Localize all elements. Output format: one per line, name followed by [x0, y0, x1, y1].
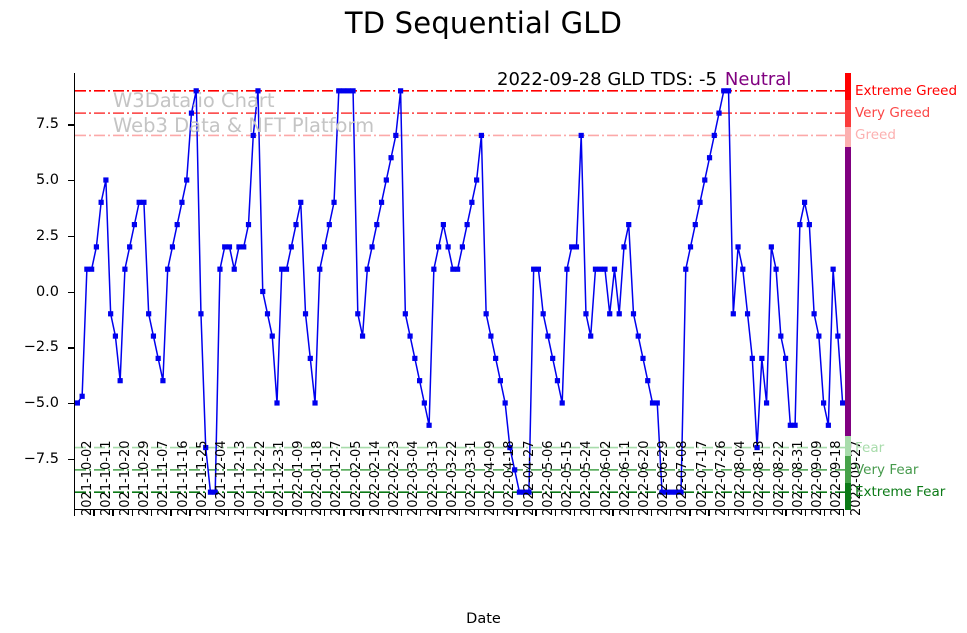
x-tick-mark — [420, 510, 421, 516]
x-tick-label: 2022-02-05 — [349, 440, 364, 516]
x-tick-mark — [285, 510, 286, 516]
x-tick-mark — [497, 510, 498, 516]
x-tick-label: 2021-10-11 — [99, 440, 114, 516]
colorbar-segment-very-fear — [845, 456, 851, 483]
x-tick-label: 2022-04-09 — [483, 440, 498, 516]
x-tick-label: 2022-01-18 — [310, 440, 325, 516]
x-tick-mark — [151, 510, 152, 516]
x-tick-label: 2022-08-04 — [733, 440, 748, 516]
x-tick-mark — [401, 510, 402, 516]
x-tick-label: 2022-02-14 — [368, 440, 383, 516]
x-axis-title: Date — [0, 611, 967, 627]
x-tick-mark — [209, 510, 210, 516]
x-tick-mark — [74, 510, 75, 516]
x-tick-label: 2022-06-02 — [599, 440, 614, 516]
x-tick-label: 2022-09-09 — [810, 440, 825, 516]
x-tick-label: 2022-01-27 — [329, 440, 344, 516]
x-tick-label: 2022-05-15 — [560, 440, 575, 516]
x-tick-label: 2022-07-08 — [675, 440, 690, 516]
x-tick-label: 2022-05-06 — [541, 440, 556, 516]
sentiment-label-greed: Greed — [855, 127, 896, 143]
td-sequential-chart: TD Sequential GLD 7.55.02.50.0−2.5−5.0−7… — [0, 0, 967, 633]
x-tick-label: 2022-04-18 — [502, 440, 517, 516]
x-tick-mark — [632, 510, 633, 516]
x-tick-label: 2022-02-23 — [387, 440, 402, 516]
x-tick-label: 2021-11-25 — [195, 440, 210, 516]
x-tick-mark — [266, 510, 267, 516]
colorbar-segment-neutral — [845, 147, 851, 437]
x-tick-mark — [555, 510, 556, 516]
x-tick-mark — [612, 510, 613, 516]
x-tick-mark — [574, 510, 575, 516]
x-tick-mark — [785, 510, 786, 516]
x-tick-mark — [343, 510, 344, 516]
x-tick-mark — [170, 510, 171, 516]
x-tick-mark — [708, 510, 709, 516]
x-tick-label: 2022-03-22 — [445, 440, 460, 516]
x-tick-label: 2021-12-04 — [214, 440, 229, 516]
sentiment-label-extreme-greed: Extreme Greed — [855, 83, 957, 99]
x-tick-mark — [651, 510, 652, 516]
x-tick-label: 2022-08-13 — [752, 440, 767, 516]
sentiment-colorbar — [845, 73, 851, 510]
x-tick-label: 2021-10-20 — [118, 440, 133, 516]
x-tick-mark — [478, 510, 479, 516]
x-tick-mark — [228, 510, 229, 516]
sentiment-label-very-greed: Very Greed — [855, 105, 930, 121]
x-tick-mark — [670, 510, 671, 516]
sentiment-label-very-fear: Very Fear — [855, 462, 918, 478]
x-tick-label: 2022-03-31 — [464, 440, 479, 516]
x-tick-mark — [439, 510, 440, 516]
colorbar-segment-very-greed — [845, 100, 851, 127]
x-tick-mark — [728, 510, 729, 516]
x-tick-mark — [824, 510, 825, 516]
x-tick-label: 2022-08-22 — [772, 440, 787, 516]
x-tick-mark — [516, 510, 517, 516]
x-tick-mark — [766, 510, 767, 516]
sentiment-label-fear: Fear — [855, 440, 884, 456]
colorbar-segment-greed — [845, 127, 851, 147]
x-tick-mark — [93, 510, 94, 516]
x-tick-mark — [459, 510, 460, 516]
x-tick-label: 2022-06-29 — [656, 440, 671, 516]
x-tick-label: 2022-09-18 — [829, 440, 844, 516]
x-tick-label: 2022-04-27 — [522, 440, 537, 516]
x-tick-label: 2021-12-13 — [233, 440, 248, 516]
x-tick-mark — [535, 510, 536, 516]
sentiment-label-extreme-fear: Extreme Fear — [855, 484, 945, 500]
x-tick-label: 2021-12-31 — [272, 440, 287, 516]
x-tick-mark — [593, 510, 594, 516]
x-tick-label: 2022-07-26 — [714, 440, 729, 516]
x-tick-label: 2021-10-02 — [80, 440, 95, 516]
x-tick-label: 2022-07-17 — [695, 440, 710, 516]
x-tick-label: 2021-11-07 — [156, 440, 171, 516]
x-tick-label: 2022-08-31 — [791, 440, 806, 516]
x-tick-mark — [843, 510, 844, 516]
x-tick-mark — [132, 510, 133, 516]
x-tick-mark — [805, 510, 806, 516]
x-tick-mark — [689, 510, 690, 516]
x-axis: 2021-10-022021-10-112021-10-202021-10-29… — [0, 0, 967, 633]
x-tick-mark — [382, 510, 383, 516]
x-tick-mark — [247, 510, 248, 516]
x-tick-label: 2022-06-20 — [637, 440, 652, 516]
x-tick-mark — [324, 510, 325, 516]
x-tick-label: 2022-06-11 — [618, 440, 633, 516]
x-tick-label: 2022-05-24 — [579, 440, 594, 516]
x-tick-mark — [189, 510, 190, 516]
x-tick-mark — [747, 510, 748, 516]
x-tick-mark — [362, 510, 363, 516]
x-tick-label: 2022-01-09 — [291, 440, 306, 516]
x-tick-label: 2022-03-13 — [426, 440, 441, 516]
x-tick-mark — [305, 510, 306, 516]
x-tick-mark — [112, 510, 113, 516]
x-tick-label: 2021-12-22 — [253, 440, 268, 516]
x-tick-label: 2022-03-04 — [406, 440, 421, 516]
colorbar-segment-fear — [845, 436, 851, 456]
colorbar-segment-extreme-greed — [845, 73, 851, 100]
x-tick-label: 2021-10-29 — [137, 440, 152, 516]
colorbar-segment-extreme-fear — [845, 483, 851, 510]
x-tick-label: 2021-11-16 — [176, 440, 191, 516]
